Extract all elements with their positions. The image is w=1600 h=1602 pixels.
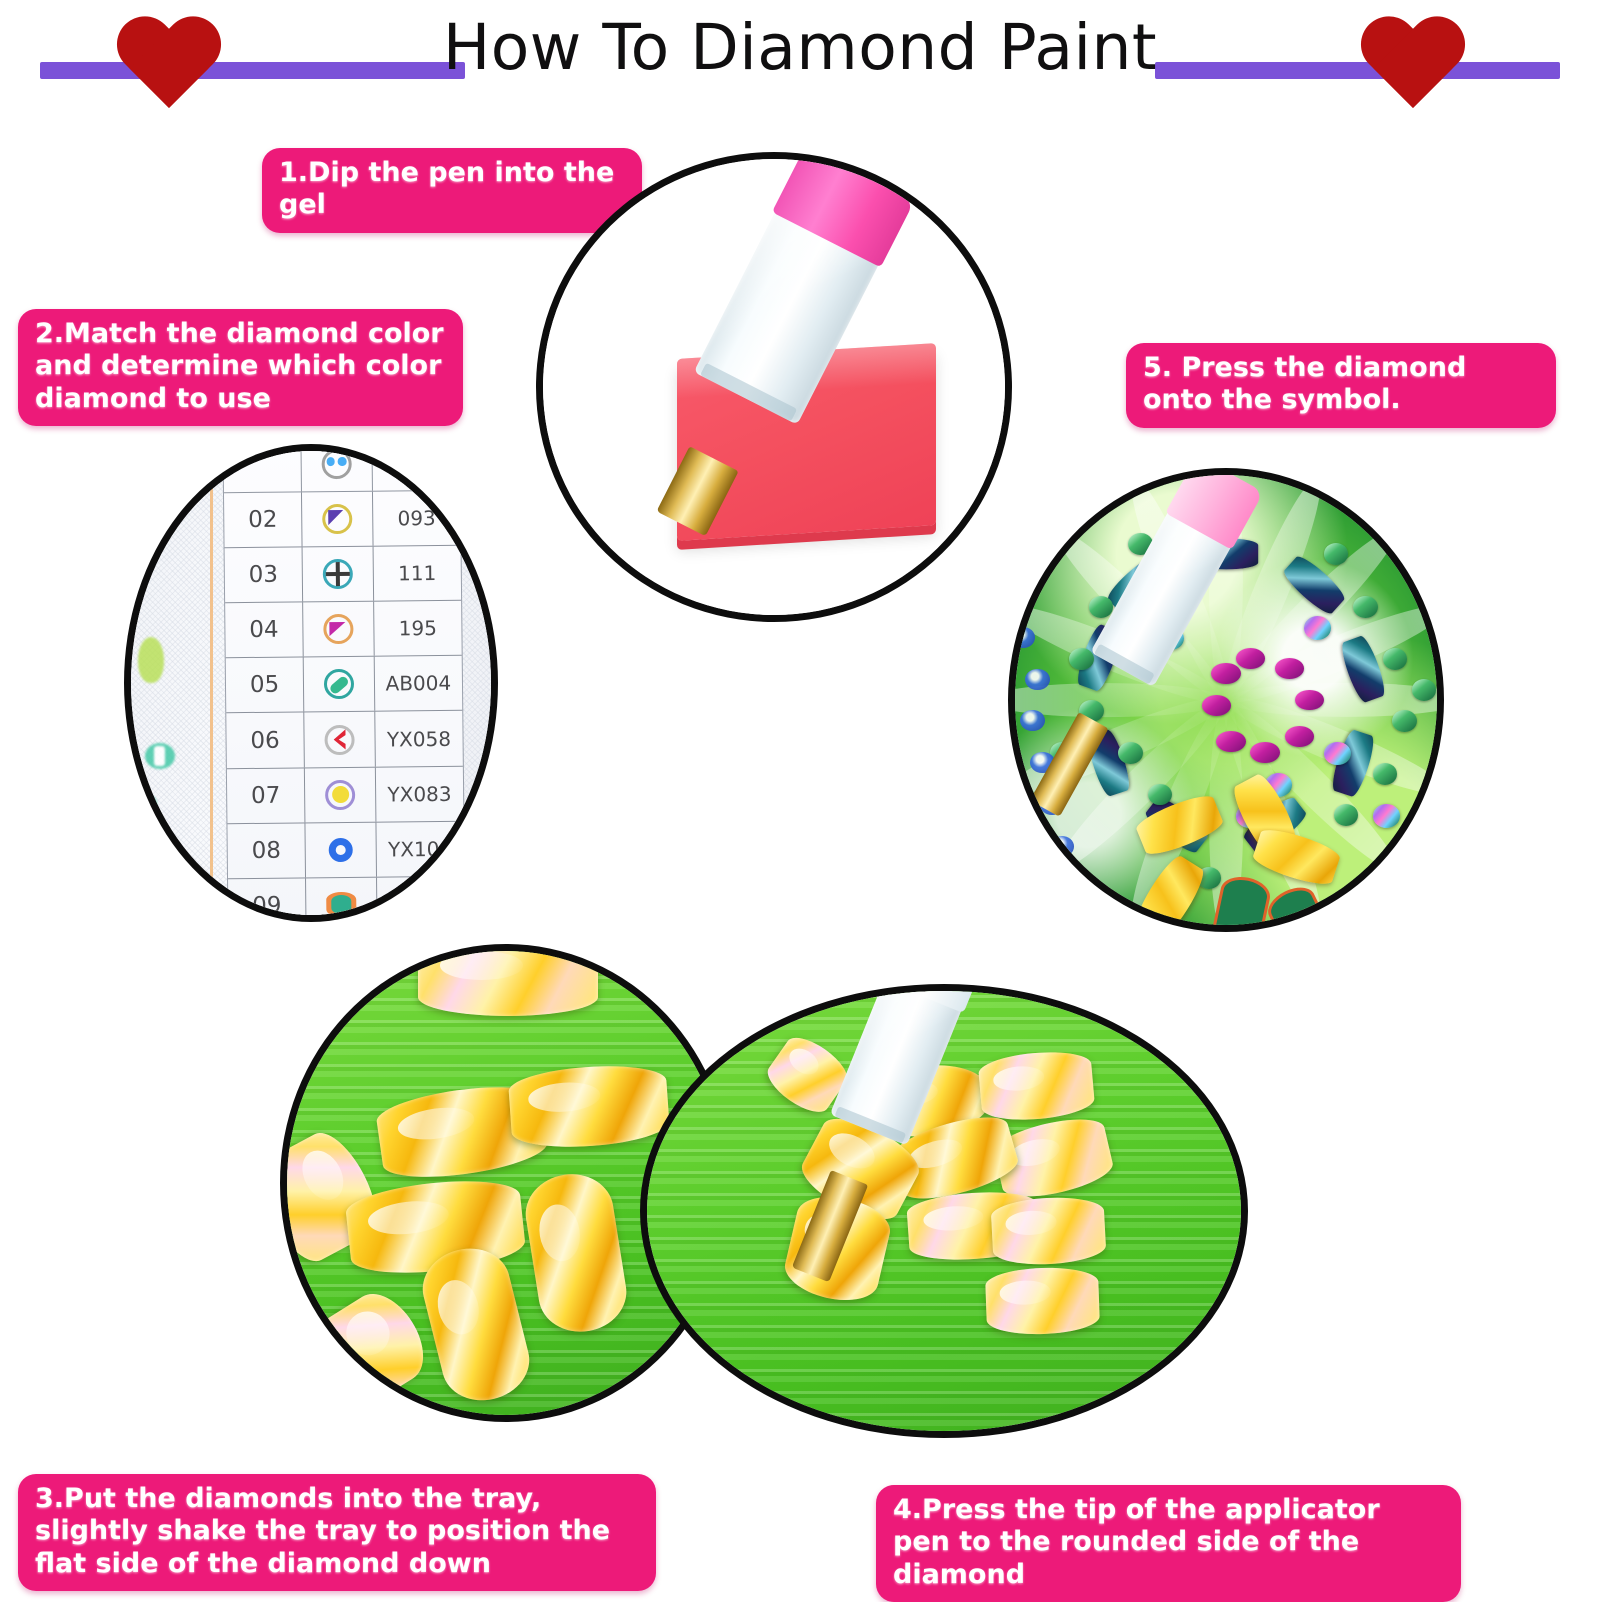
pen-dipping-into-gel-photo <box>536 152 1012 622</box>
color-chart-row: 02 093 <box>224 491 460 549</box>
color-chart-row: 06 YX058 <box>226 711 462 769</box>
mandala-gem-round <box>1373 804 1400 827</box>
chart-row-code: YX106 <box>376 837 463 862</box>
chart-row-symbol <box>303 602 375 657</box>
pen-pressing-diamond-photo <box>640 984 1248 1438</box>
step-label-2: 2.Match the diamond color and determine … <box>18 309 463 426</box>
printed-symbol <box>1050 836 1074 857</box>
color-chart-table: 02802 09303 11104 19505 AB00406 YX05807 … <box>222 444 465 922</box>
chart-row-code: 195 <box>374 616 461 641</box>
mandala-gem-round <box>1211 663 1240 684</box>
chart-row-symbol <box>305 822 377 877</box>
chart-row-number: 04 <box>225 603 304 658</box>
symbol-triangle <box>322 504 352 534</box>
color-chart-row: 09 YX125 <box>228 877 464 922</box>
step-label-5: 5. Press the diamond onto the symbol. <box>1126 343 1556 428</box>
chart-row-code: 111 <box>373 561 460 586</box>
chart-row-code: YX058 <box>375 726 462 751</box>
chart-row-code: 093 <box>373 506 460 531</box>
chart-row-number: 02 <box>224 493 303 548</box>
symbol-leaf-marquise <box>326 890 356 920</box>
symbol-chevron-left <box>324 724 354 754</box>
chart-row-symbol <box>303 657 375 712</box>
symbol-ring-open <box>325 835 355 865</box>
chart-row-symbol <box>304 712 376 767</box>
symbol-capsule-bar <box>324 669 354 699</box>
mandala-gem-round <box>1353 596 1377 618</box>
printed-symbol <box>1020 710 1044 731</box>
chart-row-number: 08 <box>227 823 306 878</box>
chart-row-number: 09 <box>228 878 307 922</box>
printed-symbol <box>1011 627 1035 648</box>
symbol-circle-double-dot <box>321 449 351 479</box>
symbol-triangle-down <box>323 614 353 644</box>
color-chart-row: 03 111 <box>224 546 460 604</box>
chart-row-code: YX083 <box>376 781 463 806</box>
chart-row-number: 06 <box>226 713 305 768</box>
mandala-gem-round <box>1324 742 1351 765</box>
page-header: How To Diamond Paint <box>0 0 1600 130</box>
chart-row-symbol <box>305 767 377 822</box>
chart-row-symbol <box>306 878 378 922</box>
mandala-gem-round <box>1295 690 1324 711</box>
chart-row-code: AB004 <box>375 671 462 696</box>
mandala-gem-round <box>1285 726 1314 747</box>
mandala-gem-round <box>1250 742 1279 763</box>
chart-row-symbol <box>302 492 374 547</box>
mandala-gem-round <box>1392 710 1416 732</box>
color-chart-row: 08 YX106 <box>227 822 463 880</box>
chart-row-number: 03 <box>224 548 303 603</box>
chart-row-symbol <box>302 547 374 602</box>
mandala-gem-round <box>1373 763 1397 785</box>
chart-row-code: 028 <box>372 451 459 476</box>
step-label-3: 3.Put the diamonds into the tray, slight… <box>18 1474 656 1591</box>
step-label-4: 4.Press the tip of the applicator pen to… <box>876 1485 1461 1602</box>
color-chart-row: 05 AB004 <box>225 656 461 714</box>
chart-row-code: YX125 <box>377 892 464 917</box>
mandala-gem-round <box>1202 695 1231 716</box>
page-title: How To Diamond Paint <box>0 16 1600 79</box>
unfilled-symbol-pocket <box>1262 880 1337 932</box>
symbol-plus-cross <box>322 559 352 589</box>
mandala-gem-round <box>1089 596 1113 618</box>
mandala-gem-round <box>1304 616 1331 639</box>
mandala-gem-round <box>1383 648 1407 670</box>
mandala-gem-round <box>1216 731 1245 752</box>
symbol-dot-in-ring <box>325 780 355 810</box>
chart-row-number: 07 <box>226 768 305 823</box>
diamond-onto-symbol-photo <box>1008 468 1444 932</box>
color-chart-row: 04 195 <box>225 601 461 659</box>
chart-row-symbol <box>301 444 373 492</box>
printed-symbol <box>1025 669 1049 690</box>
chart-row-number: 05 <box>225 658 304 713</box>
infographic-page: How To Diamond Paint 1.Dip the pen into … <box>0 0 1600 1600</box>
color-chart-row: 07 YX083 <box>226 766 462 824</box>
mandala-gem-round <box>1236 648 1265 669</box>
mandala-gem-round <box>1118 742 1142 764</box>
color-chart-legend-photo: 02802 09303 11104 19505 AB00406 YX05807 … <box>124 444 498 922</box>
chart-row-number <box>223 444 302 492</box>
color-chart-row: 028 <box>223 444 459 493</box>
